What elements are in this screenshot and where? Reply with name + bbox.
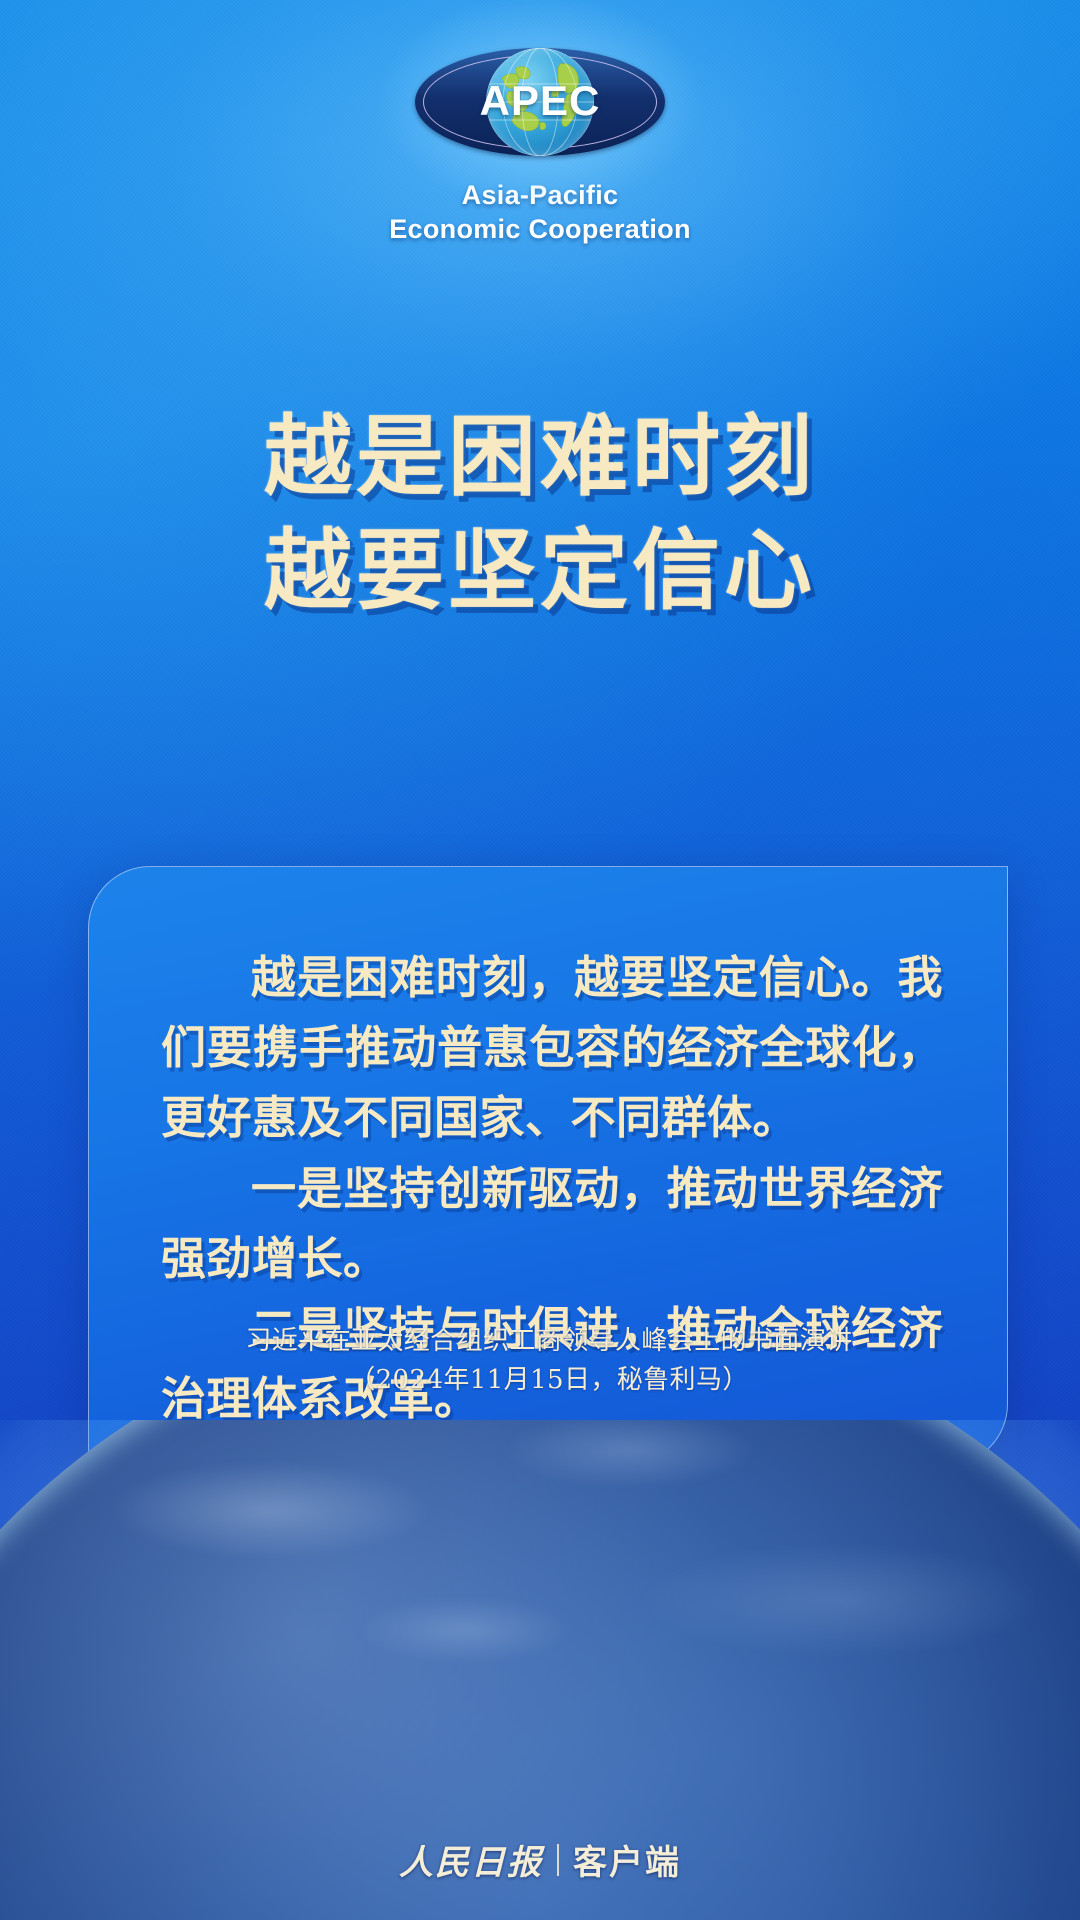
quote-card: 越是困难时刻，越要坚定信心。我们要携手推动普惠包容的经济全球化，更好惠及不同国家… [88, 866, 1008, 1466]
peoples-daily-wordmark: 人民日报 [399, 1835, 543, 1884]
quote-attribution: 习近平在亚太经合组织工商领导人峰会上的书面演讲 （2024年11月15日，秘鲁利… [149, 1322, 949, 1401]
poster-headline: 越是困难时刻 越要坚定信心 [0, 400, 1080, 629]
apec-subtitle-line-2: Economic Cooperation [0, 212, 1080, 246]
quote-paragraph: 三是坚持以人为本，推动解决发展失衡问题。 [161, 1434, 943, 1574]
apec-acronym-label: APEC [415, 77, 665, 125]
brand-separator [557, 1844, 559, 1876]
attribution-source: 习近平在亚太经合组织工商领导人峰会上的书面演讲 [149, 1322, 949, 1362]
quote-body: 越是困难时刻，越要坚定信心。我们要携手推动普惠包容的经济全球化，更好惠及不同国家… [161, 943, 943, 1575]
attribution-date-place: （2024年11月15日，秘鲁利马） [149, 1361, 949, 1401]
quote-paragraph: 一是坚持创新驱动，推动世界经济强劲增长。 [161, 1154, 943, 1294]
headline-line-1: 越是困难时刻 [0, 400, 1080, 514]
apec-globe-icon: APEC [415, 48, 665, 156]
apec-logo-block: APEC Asia-Pacific Economic Cooperation [0, 48, 1080, 246]
apec-quote-poster: APEC Asia-Pacific Economic Cooperation 越… [0, 0, 1080, 1920]
footer-brand: 人民日报 客户端 [0, 1835, 1080, 1884]
quote-paragraph: 越是困难时刻，越要坚定信心。我们要携手推动普惠包容的经济全球化，更好惠及不同国家… [161, 943, 943, 1154]
headline-line-2: 越要坚定信心 [0, 514, 1080, 628]
app-name-label: 客户端 [573, 1835, 681, 1884]
